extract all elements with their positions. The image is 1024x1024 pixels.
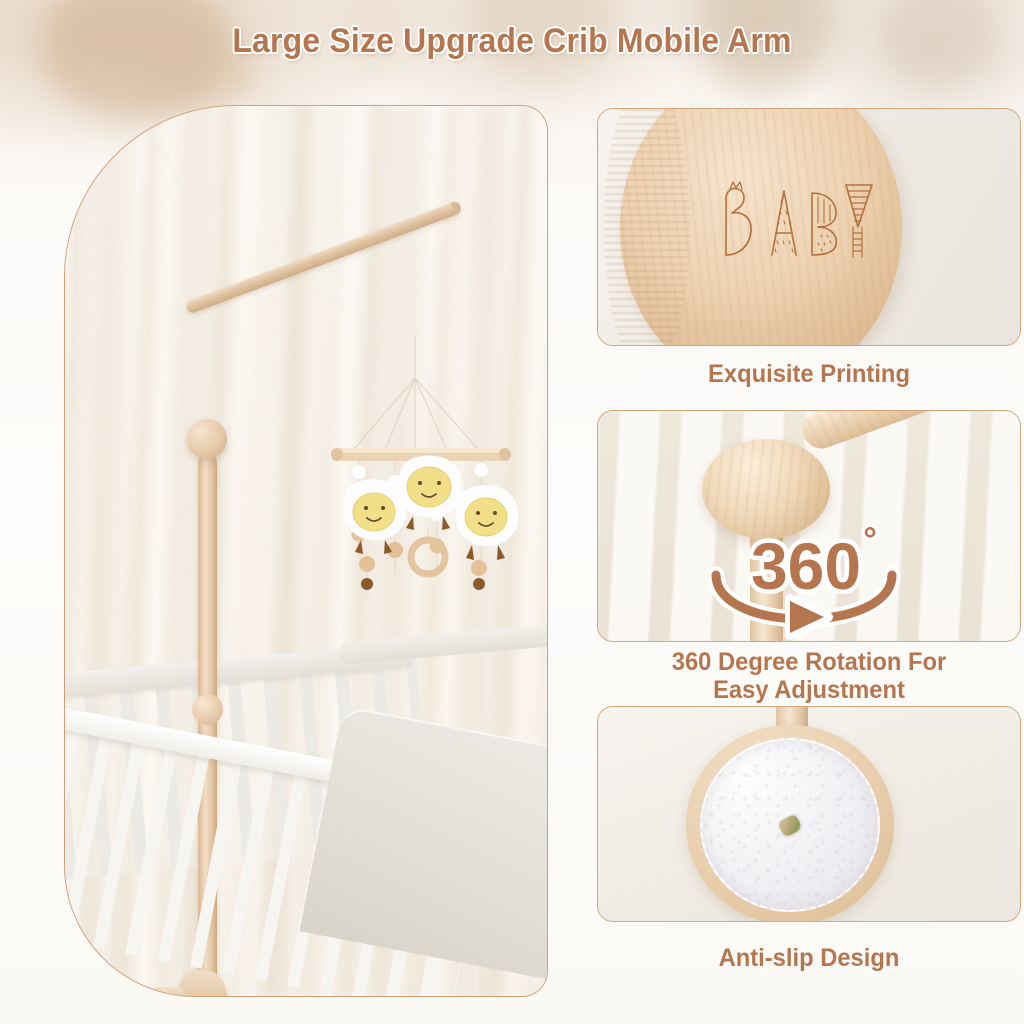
badge-360-value: 360 xyxy=(751,529,861,603)
anti-slip-wooden-disc xyxy=(686,725,894,922)
feature-image-360-rotation: 360 360 ° ° xyxy=(597,410,1021,642)
hero-photo-inner xyxy=(65,106,547,996)
mobile-suspension-strings xyxy=(353,336,479,450)
felt-egg-mobile xyxy=(297,334,547,594)
mobile-arm-post-bead xyxy=(192,694,223,725)
felt-egg-character xyxy=(398,455,462,574)
felt-egg-character xyxy=(456,485,519,590)
feature-caption-exquisite-printing: Exquisite Printing xyxy=(608,360,1011,388)
page-title: Large Size Upgrade Crib Mobile Arm xyxy=(31,22,994,61)
infographic-canvas: Large Size Upgrade Crib Mobile Arm xyxy=(0,0,1024,1024)
badge-degree-unit: ° xyxy=(863,521,877,559)
wooden-teething-ring xyxy=(411,540,445,574)
hero-product-photo xyxy=(64,105,548,997)
feature-caption-360-rotation: 360 Degree Rotation For Easy Adjustment xyxy=(608,648,1011,704)
mobile-arm-clamp-knob xyxy=(147,987,187,997)
feature-caption-line-2: Easy Adjustment xyxy=(608,676,1011,704)
feature-caption-anti-slip-design: Anti-slip Design xyxy=(608,944,1011,972)
feature-image-exquisite-printing xyxy=(597,108,1021,346)
mobile-arm-ball-joint xyxy=(187,419,227,459)
rotation-360-badge: 360 360 ° ° xyxy=(694,503,924,642)
baby-engraving-icon xyxy=(714,171,874,271)
crib-top-edge xyxy=(339,621,548,665)
white-crib xyxy=(65,616,548,996)
feature-caption-line-1: 360 Degree Rotation For xyxy=(608,648,1011,676)
feature-image-anti-slip-design xyxy=(597,706,1021,922)
anti-slip-felt-pad xyxy=(700,738,880,912)
